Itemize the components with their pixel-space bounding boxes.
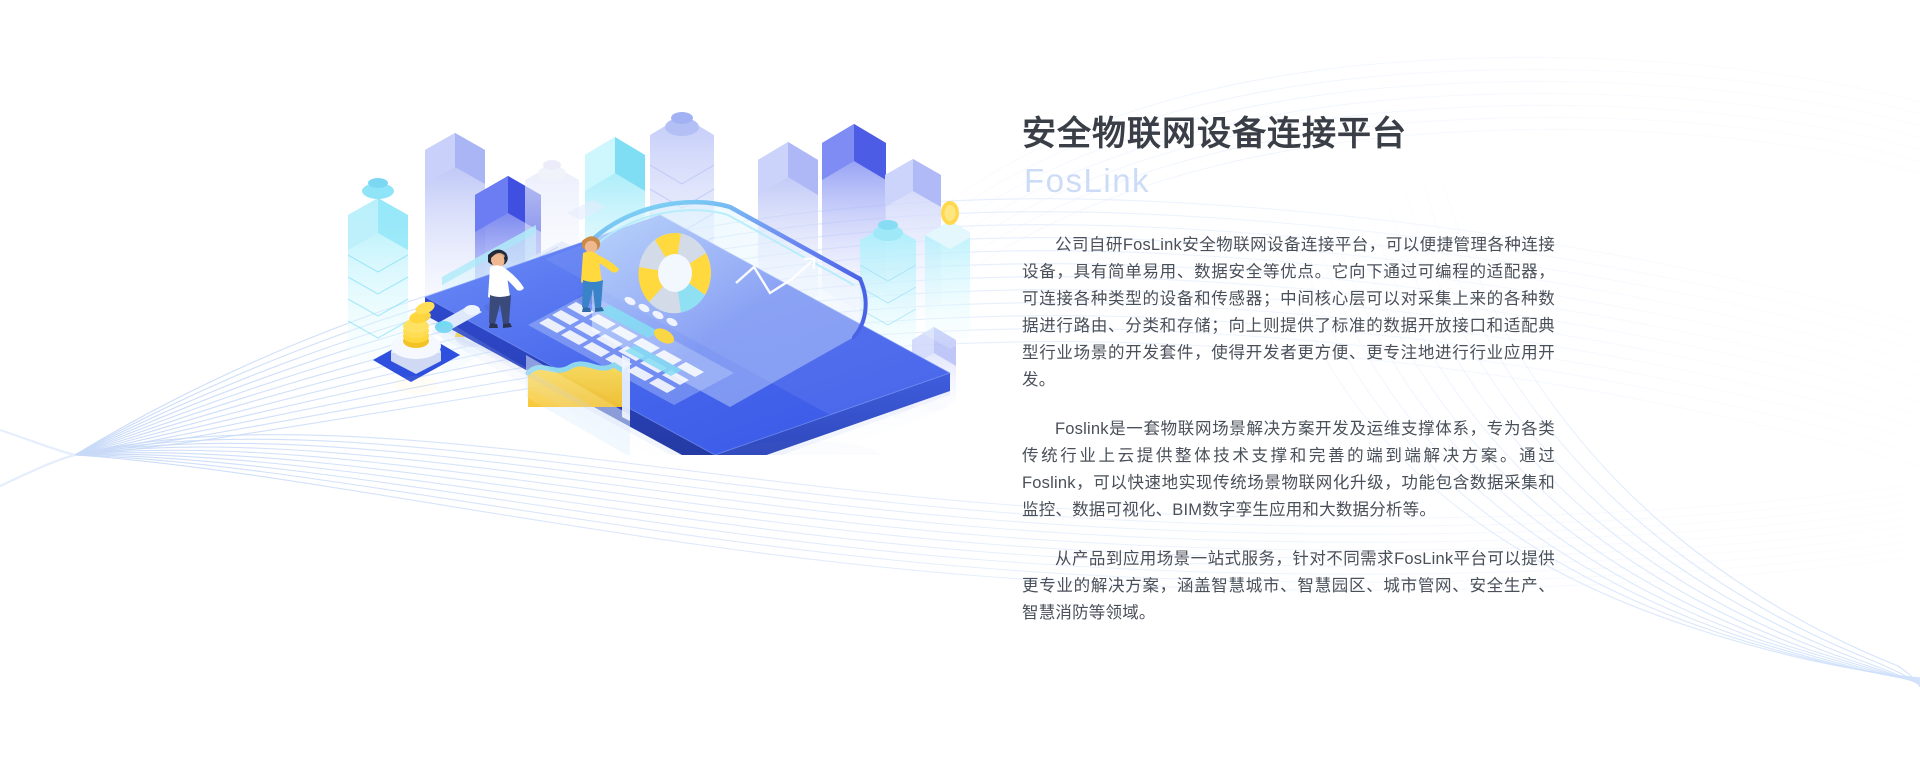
isometric-smart-city-platform-illustration (330, 55, 970, 455)
description-paragraph-3: 从产品到应用场景一站式服务，针对不同需求FosLink平台可以提供更专业的解决方… (1022, 546, 1555, 627)
page-subtitle: FosLink (1024, 158, 1582, 204)
page-title: 安全物联网设备连接平台 (1022, 110, 1582, 158)
hero-text-column: 安全物联网设备连接平台 FosLink 公司自研FosLink安全物联网设备连接… (1022, 110, 1582, 627)
description-paragraph-1: 公司自研FosLink安全物联网设备连接平台，可以便捷管理各种连接设备，具有简单… (1022, 232, 1555, 394)
donut-chart (638, 233, 711, 313)
hero-description: 公司自研FosLink安全物联网设备连接平台，可以便捷管理各种连接设备，具有简单… (1022, 232, 1582, 627)
description-paragraph-2: Foslink是一套物联网场景解决方案开发及运维支撑体系，专为各类传统行业上云提… (1022, 416, 1555, 524)
hero-banner: 安全物联网设备连接平台 FosLink 公司自研FosLink安全物联网设备连接… (0, 0, 1920, 760)
